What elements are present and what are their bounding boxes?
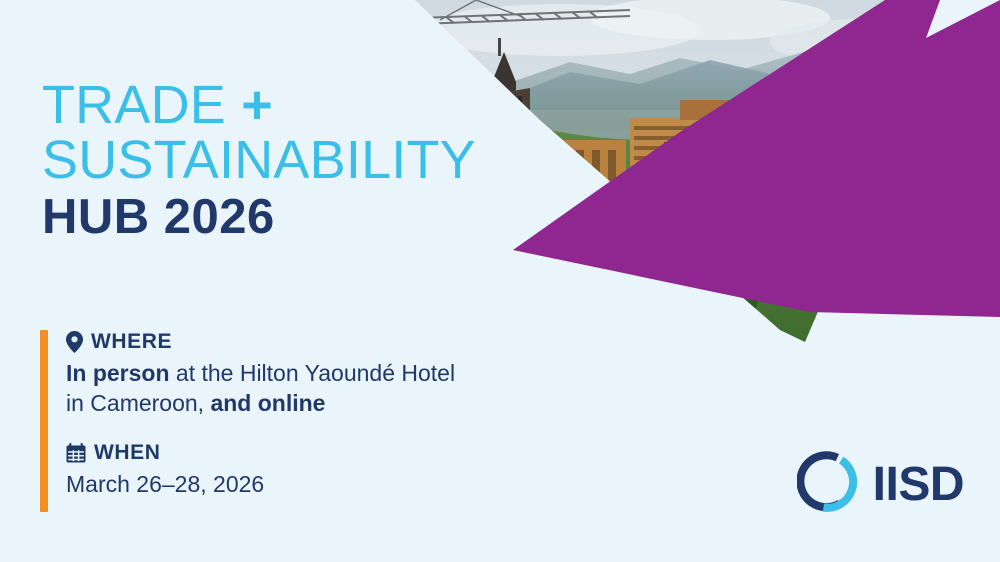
accent-bar [40, 330, 48, 512]
banner-headline: TRADE + SUSTAINABILITY HUB 2026 [42, 78, 562, 248]
where-value-plain-2: in Cameroon, [66, 390, 210, 416]
purple-overlay [513, 0, 1000, 317]
event-banner: TRADE + SUSTAINABILITY HUB 2026 WHERE In… [0, 0, 1000, 562]
iisd-ring-icon [797, 451, 859, 518]
where-value: In person at the Hilton Yaoundé Hotel in… [66, 358, 580, 419]
headline-line-3: HUB 2026 [42, 188, 562, 248]
where-value-bold-1: In person [66, 360, 170, 386]
iisd-wordmark: IISD [873, 461, 964, 509]
where-label: WHERE [91, 330, 172, 354]
headline-line-2: SUSTAINABILITY [42, 133, 562, 188]
map-pin-icon [66, 331, 83, 353]
where-value-bold-2: and online [210, 390, 325, 416]
where-heading: WHERE [66, 330, 580, 354]
headline-line-1: TRADE + [42, 78, 562, 133]
when-label: WHEN [94, 441, 161, 465]
iisd-logo[interactable]: IISD [797, 451, 964, 518]
when-value: March 26–28, 2026 [66, 469, 580, 499]
photo-conference-hall [662, 140, 793, 270]
headline-trade: TRADE [42, 75, 226, 135]
when-group: WHEN March 26–28, 2026 [66, 441, 580, 499]
calendar-icon [66, 443, 86, 463]
headline-plus: + [241, 75, 273, 135]
photo-cars [530, 276, 611, 307]
photo-crane [420, 0, 630, 24]
where-group: WHERE In person at the Hilton Yaoundé Ho… [66, 330, 580, 419]
where-value-plain-1: at the Hilton Yaoundé Hotel [170, 360, 456, 386]
event-details: WHERE In person at the Hilton Yaoundé Ho… [40, 330, 580, 505]
when-heading: WHEN [66, 441, 580, 465]
